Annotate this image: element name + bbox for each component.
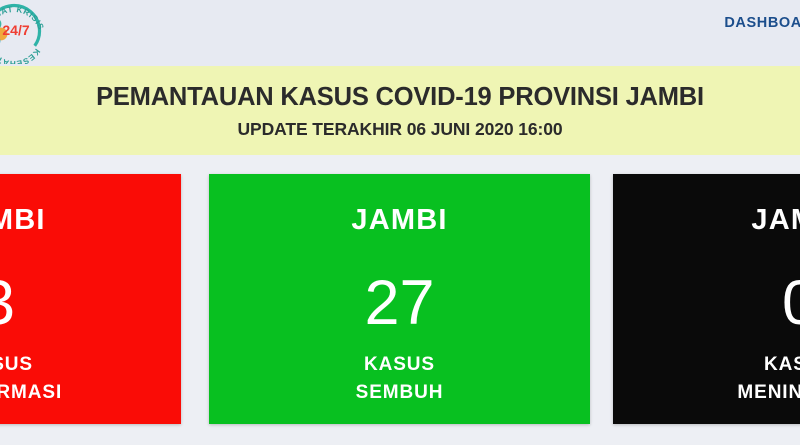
top-navbar: PUSAT KRISIS KESEHATAN 24/7 DASHBOARD: [0, 0, 800, 66]
stat-card-sembuh[interactable]: JAMBI 27 KASUS SEMBUH: [209, 174, 590, 424]
card-description: KASUS KONFIRMASI: [0, 335, 181, 406]
stat-card-meninggal[interactable]: JAMBI 0 KASUS MENINGGAL: [613, 174, 800, 424]
pusat-krisis-kesehatan-logo[interactable]: PUSAT KRISIS KESEHATAN 24/7: [0, 0, 50, 64]
card-description-line1: KASUS: [0, 351, 181, 379]
page-title-band: PEMANTAUAN KASUS COVID-19 PROVINSI JAMBI…: [0, 66, 800, 155]
card-region-label: JAMBI: [613, 174, 800, 235]
card-region-label: JAMBI: [0, 174, 181, 235]
card-description-line2: KONFIRMASI: [0, 379, 181, 407]
svg-text:KESEHATAN: KESEHATAN: [0, 45, 42, 64]
stat-card-konfirmasi[interactable]: JAMBI 3 KASUS KONFIRMASI: [0, 174, 181, 424]
stat-cards-row: JAMBI 3 KASUS KONFIRMASI JAMBI 27 KASUS …: [0, 174, 800, 424]
card-description: KASUS SEMBUH: [209, 335, 590, 406]
card-description-line1: KASUS: [209, 351, 590, 379]
card-description-line2: SEMBUH: [209, 379, 590, 407]
card-count-value: 0: [613, 235, 800, 335]
page-title: PEMANTAUAN KASUS COVID-19 PROVINSI JAMBI: [0, 83, 800, 112]
nav-link-dashboard[interactable]: DASHBOARD: [724, 15, 800, 31]
card-description: KASUS MENINGGAL: [613, 335, 800, 406]
dashboard-page: PUSAT KRISIS KESEHATAN 24/7 DASHBOARD PE…: [0, 0, 800, 445]
last-update-text: UPDATE TERAKHIR 06 JUNI 2020 16:00: [0, 119, 800, 140]
card-count-value: 27: [209, 235, 590, 335]
card-count-value: 3: [0, 235, 181, 335]
card-description-line1: KASUS: [613, 351, 800, 379]
navbar-links: DASHBOARD: [724, 14, 800, 32]
card-region-label: JAMBI: [209, 174, 590, 235]
card-description-line2: MENINGGAL: [613, 379, 800, 407]
svg-text:24/7: 24/7: [2, 22, 29, 38]
